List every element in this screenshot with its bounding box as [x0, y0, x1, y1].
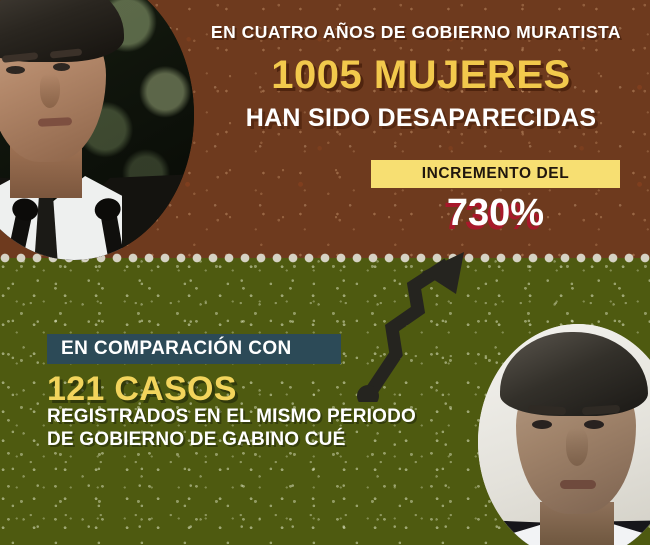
cases-detail: REGISTRADOS EN EL MISMO PERIODO DE GOBIE… [47, 405, 467, 451]
portrait-gabino-cue [478, 324, 650, 545]
portrait-gabino-nose [566, 428, 588, 466]
portrait-murat [0, 0, 194, 260]
portrait-gabino-mouth [560, 480, 596, 489]
cases-detail-line-2: DE GOBIERNO DE GABINO CUÉ [47, 428, 467, 451]
portrait-murat-eye-right [53, 63, 70, 71]
infographic-poster: EN CUATRO AÑOS DE GOBIERNO MURATISTA 100… [0, 0, 650, 545]
upward-trend-arrow [352, 250, 482, 402]
kicker-text: EN CUATRO AÑOS DE GOBIERNO MURATISTA [200, 22, 632, 43]
portrait-murat-nose [40, 74, 60, 108]
cases-detail-line-1: REGISTRADOS EN EL MISMO PERIODO [47, 405, 467, 428]
cases-number: 121 CASOS [47, 370, 237, 409]
increase-percentage: 730% [371, 192, 620, 235]
increase-banner: INCREMENTO DEL [371, 160, 620, 188]
comparison-banner-label: EN COMPARACIÓN CON [47, 338, 292, 360]
headline-subtitle: HAN SIDO DESAPARECIDAS [210, 104, 632, 133]
comparison-banner: EN COMPARACIÓN CON [47, 334, 341, 364]
headline-number: 1005 MUJERES [210, 55, 632, 96]
portrait-gabino-eye-left [532, 420, 552, 429]
portrait-murat-eye-left [6, 66, 25, 74]
portrait-gabino-eye-right [584, 420, 604, 429]
increase-banner-label: INCREMENTO DEL [422, 165, 570, 183]
